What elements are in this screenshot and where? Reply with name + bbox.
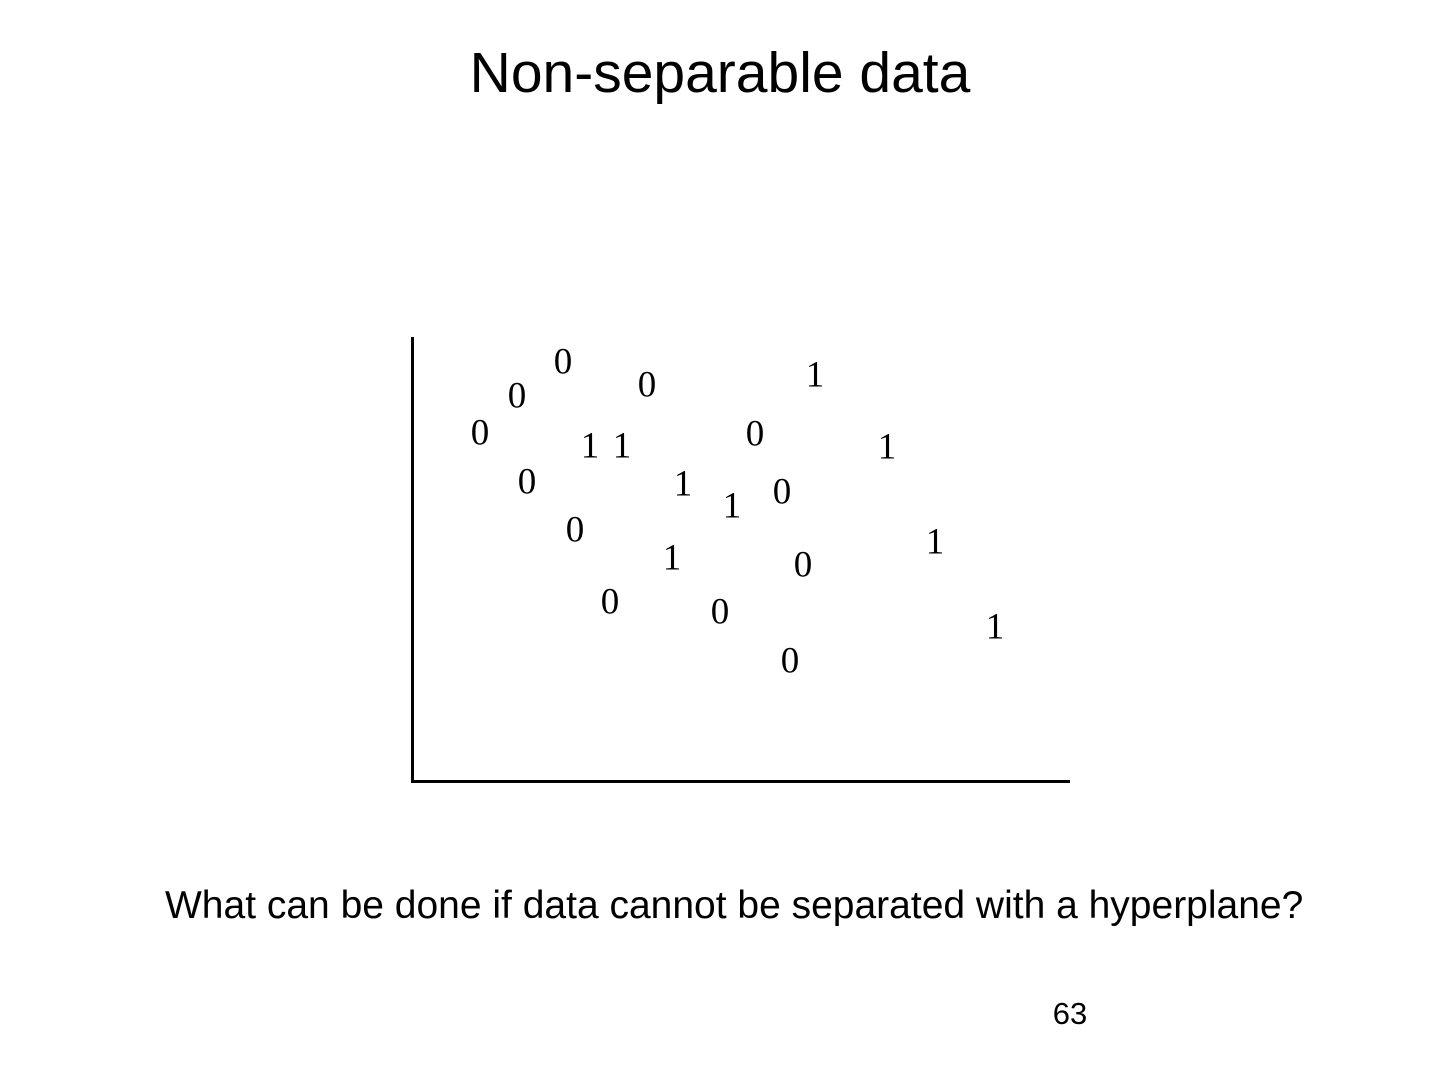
data-point-0: 0 bbox=[794, 547, 813, 584]
data-point-0: 0 bbox=[554, 344, 573, 381]
y-axis-line bbox=[411, 337, 414, 783]
data-point-0: 0 bbox=[601, 584, 620, 621]
scatter-plot: 000000000000111111111 bbox=[411, 337, 1073, 784]
data-point-0: 0 bbox=[711, 594, 730, 631]
data-point-1: 1 bbox=[613, 428, 632, 465]
data-point-0: 0 bbox=[781, 643, 800, 680]
data-point-0: 0 bbox=[471, 415, 490, 452]
data-point-0: 0 bbox=[773, 474, 792, 511]
data-point-0: 0 bbox=[638, 367, 657, 404]
data-point-1: 1 bbox=[674, 466, 693, 503]
data-point-1: 1 bbox=[663, 540, 682, 577]
slide-canvas: Non-separable data 000000000000111111111… bbox=[0, 0, 1440, 1080]
body-text: What can be done if data cannot be separ… bbox=[165, 880, 1325, 932]
data-point-1: 1 bbox=[926, 524, 945, 561]
x-axis-line bbox=[411, 780, 1070, 783]
data-point-0: 0 bbox=[518, 464, 537, 501]
data-point-1: 1 bbox=[806, 357, 825, 394]
data-point-1: 1 bbox=[723, 488, 742, 525]
data-point-0: 0 bbox=[566, 512, 585, 549]
data-point-1: 1 bbox=[581, 428, 600, 465]
data-point-0: 0 bbox=[746, 416, 765, 453]
page-title: Non-separable data bbox=[0, 38, 1440, 108]
data-point-1: 1 bbox=[986, 609, 1005, 646]
data-point-0: 0 bbox=[508, 378, 527, 415]
data-point-1: 1 bbox=[878, 429, 897, 466]
page-number: 63 bbox=[1020, 996, 1120, 1032]
